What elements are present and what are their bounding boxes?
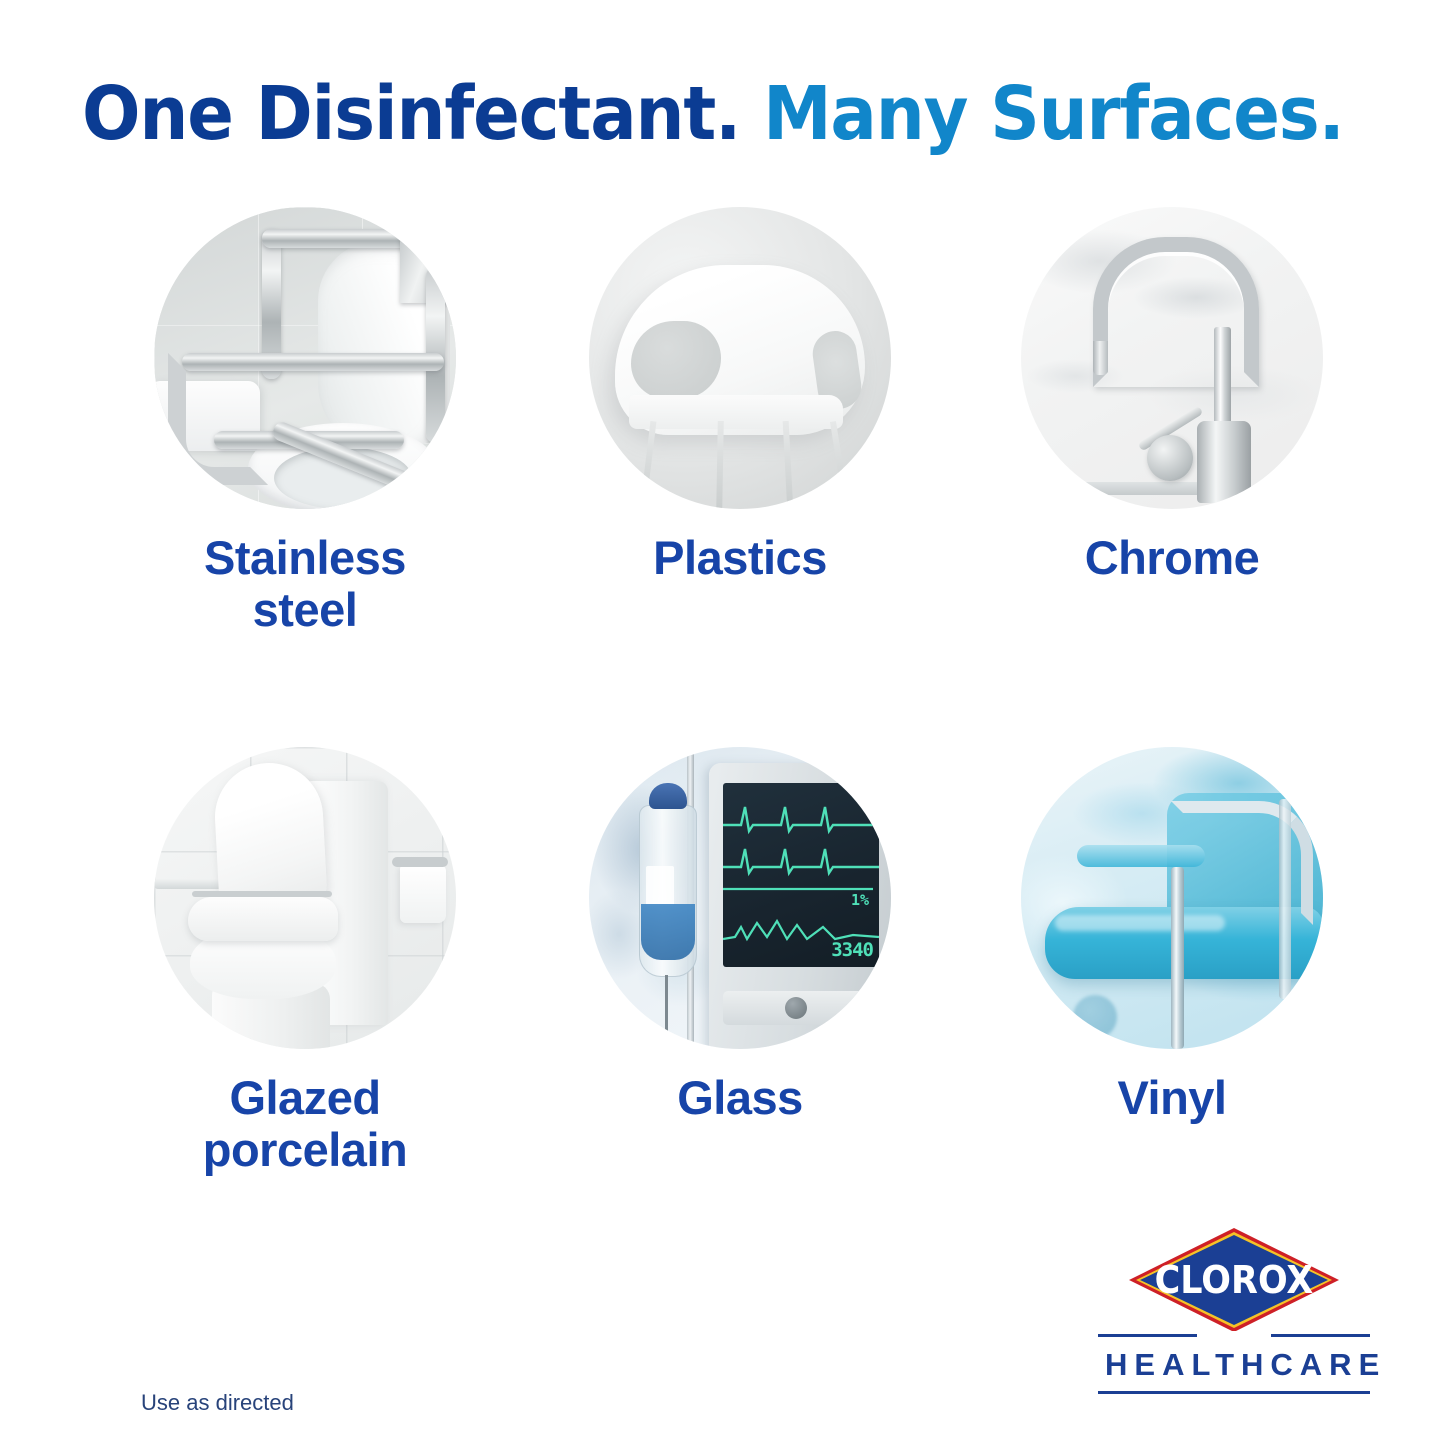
monitor-screen: 1% 3340 — [723, 783, 879, 967]
surface-card-vinyl: Vinyl — [952, 738, 1392, 1124]
chrome-post-back — [1279, 799, 1291, 999]
stainless-steel-grab-bar-icon — [154, 207, 456, 509]
faucet-spout-tip — [1093, 341, 1108, 375]
circle-wrap — [952, 198, 1392, 518]
clorox-wordmark: CLOROX — [1137, 1228, 1330, 1332]
surface-label-glass: Glass — [520, 1072, 960, 1124]
clorox-diamond-icon: CLOROX — [1129, 1228, 1339, 1332]
label-line-2: porcelain — [85, 1124, 525, 1176]
monitor-percent-readout: 1% — [851, 891, 869, 909]
chair-leg — [716, 421, 724, 509]
toilet-seat — [188, 897, 338, 941]
clorox-healthcare-logo: CLOROX HEALTHCARE — [1098, 1228, 1370, 1394]
chair-leg — [640, 421, 657, 509]
grab-bar-curve — [168, 353, 268, 485]
chair-armrest-opening-left — [631, 321, 721, 399]
monitor-control-panel — [723, 991, 879, 1025]
toilet-paper-holder — [400, 865, 446, 923]
headline-part-one: One Disinfectant. — [82, 71, 740, 157]
circle-wrap: 1% 3340 — [520, 738, 960, 1058]
label-line-1: Stainless — [85, 532, 525, 584]
wall-ledge — [154, 879, 228, 889]
chrome-armrest-frame — [1171, 801, 1313, 925]
monitor-numeric-readout: 3340 — [731, 939, 873, 961]
alarm-indicator-icon — [853, 1000, 865, 1015]
healthcare-wordmark: HEALTHCARE — [1098, 1347, 1370, 1383]
label-line-1: Vinyl — [952, 1072, 1392, 1124]
surface-label-glazed-porcelain: Glazed porcelain — [85, 1072, 525, 1176]
ecg-trace-1 — [723, 797, 879, 837]
surface-label-vinyl: Vinyl — [952, 1072, 1392, 1124]
infographic-page: One Disinfectant. Many Surfaces. — [0, 0, 1445, 1445]
chair-base-blur — [1073, 995, 1117, 1039]
surface-label-plastics: Plastics — [520, 532, 960, 584]
page-title: One Disinfectant. Many Surfaces. — [82, 72, 1282, 156]
iv-bottle-label — [646, 866, 674, 906]
faucet-spout-arc — [1093, 237, 1259, 387]
surface-card-glass: 1% 3340 — [520, 738, 960, 1124]
label-line-1: Glass — [520, 1072, 960, 1124]
disclaimer-text: Use as directed — [141, 1390, 294, 1416]
circle-wrap — [85, 198, 525, 518]
teal-vinyl-chair-icon — [1021, 747, 1323, 1049]
chrome-post-front — [1171, 867, 1184, 1049]
iv-fluid — [641, 904, 695, 960]
healthcare-block: HEALTHCARE — [1098, 1334, 1370, 1394]
monitor-dial — [785, 997, 807, 1019]
circle-wrap — [952, 738, 1392, 1058]
surface-card-chrome: Chrome — [952, 198, 1392, 584]
headline-part-two: Many Surfaces. — [763, 71, 1344, 157]
circle-wrap — [520, 198, 960, 518]
white-toilet-icon — [154, 747, 456, 1049]
surface-card-stainless-steel: Stainless steel — [85, 198, 525, 636]
iv-bottle — [639, 805, 697, 977]
surface-card-plastics: Plastics — [520, 198, 960, 584]
chrome-faucet-icon — [1021, 207, 1323, 509]
surface-grid: Stainless steel — [0, 198, 1445, 1278]
iv-tube — [665, 975, 668, 1049]
medical-monitor-iv-icon: 1% 3340 — [589, 747, 891, 1049]
healthcare-rule-bottom — [1098, 1391, 1370, 1394]
surface-card-glazed-porcelain: Glazed porcelain — [85, 738, 525, 1176]
faucet-knob — [1147, 435, 1193, 481]
surface-row-2: Glazed porcelain — [0, 738, 1445, 1278]
toilet-lid-open — [212, 760, 327, 911]
chair-seat — [629, 395, 843, 429]
iv-bottle-cap — [649, 783, 687, 809]
white-plastic-chair-icon — [589, 207, 891, 509]
label-line-2: steel — [85, 584, 525, 636]
chair-leg — [830, 421, 850, 509]
label-line-1: Glazed — [85, 1072, 525, 1124]
surface-label-chrome: Chrome — [952, 532, 1392, 584]
surface-row-1: Stainless steel — [0, 198, 1445, 738]
healthcare-rule-top — [1098, 1334, 1370, 1337]
patient-monitor: 1% 3340 — [709, 763, 891, 1049]
faucet-body — [1197, 421, 1251, 503]
label-line-1: Plastics — [520, 532, 960, 584]
surface-label-stainless-steel: Stainless steel — [85, 532, 525, 636]
circle-wrap — [85, 738, 525, 1058]
ecg-trace-2 — [723, 839, 879, 879]
label-line-1: Chrome — [952, 532, 1392, 584]
